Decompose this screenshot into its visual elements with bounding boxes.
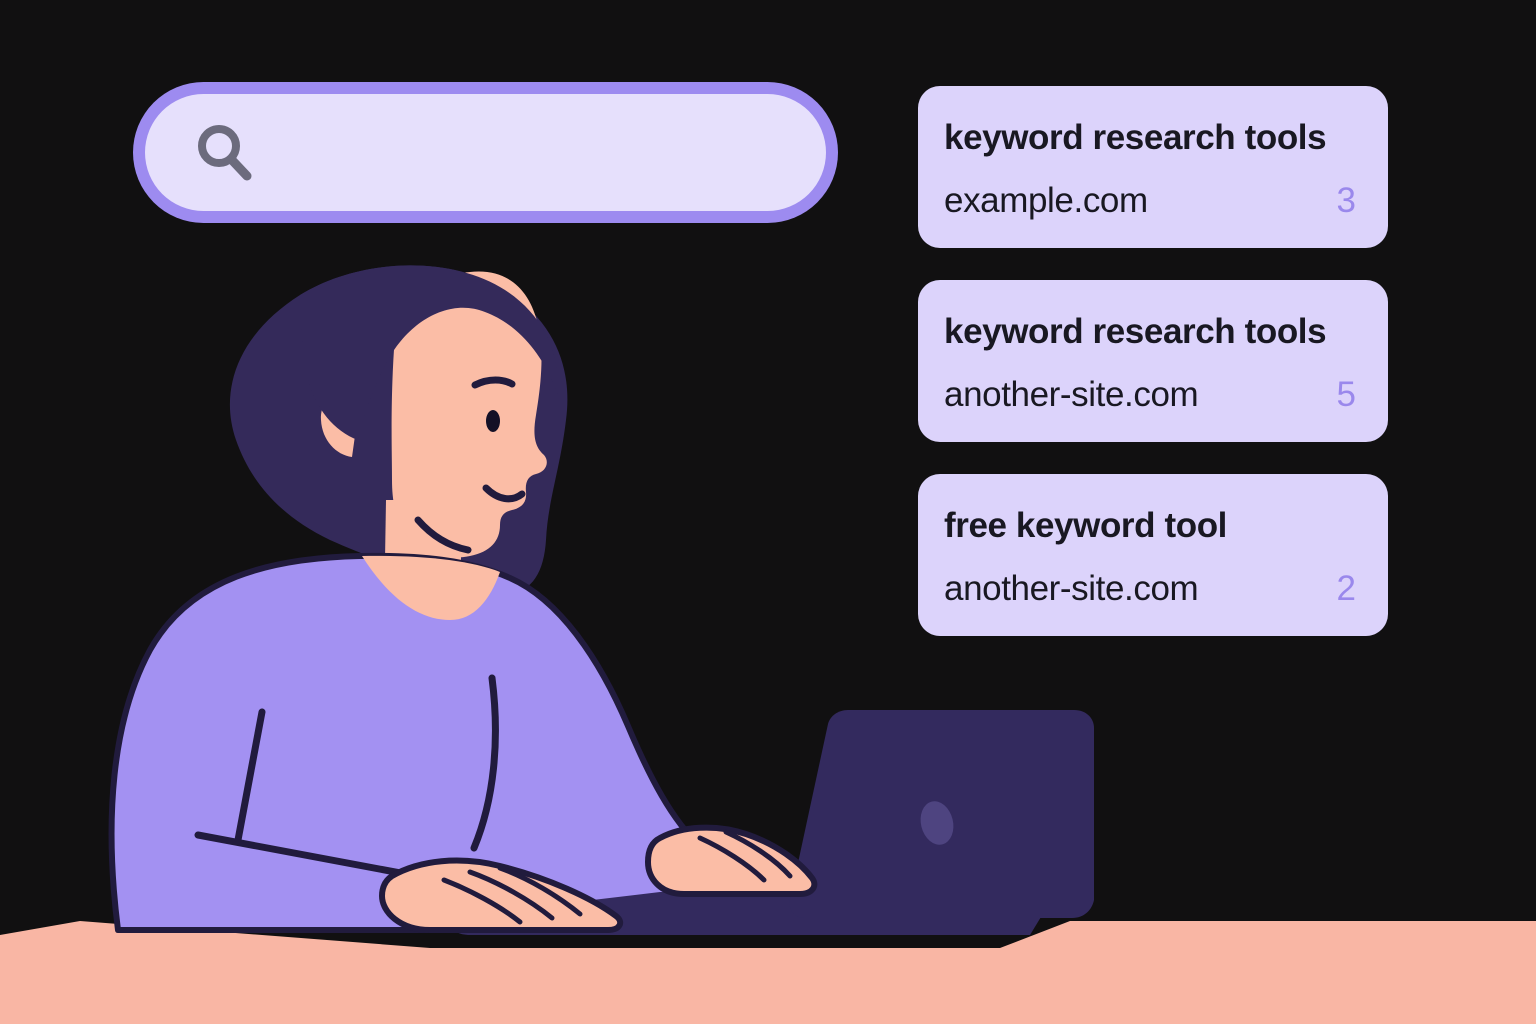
- search-results-list: keyword research tools example.com 3 key…: [918, 86, 1388, 636]
- result-keyword: keyword research tools: [944, 314, 1362, 349]
- result-bottom-row: another-site.com 5: [944, 377, 1362, 412]
- search-icon: [193, 121, 257, 185]
- result-domain: another-site.com: [944, 377, 1198, 412]
- result-bottom-row: another-site.com 2: [944, 571, 1362, 606]
- desk-surface: [0, 921, 1536, 1024]
- result-card[interactable]: keyword research tools another-site.com …: [918, 280, 1388, 442]
- result-keyword: keyword research tools: [944, 120, 1362, 155]
- search-input[interactable]: [275, 130, 826, 176]
- result-card[interactable]: free keyword tool another-site.com 2: [918, 474, 1388, 636]
- search-bar[interactable]: [133, 82, 838, 223]
- result-rank-badge: 3: [1337, 183, 1362, 218]
- result-domain: example.com: [944, 183, 1148, 218]
- right-hand: [648, 828, 814, 894]
- eye: [486, 410, 500, 432]
- illustration-canvas: keyword research tools example.com 3 key…: [0, 0, 1536, 1024]
- result-rank-badge: 5: [1337, 377, 1362, 412]
- result-keyword: free keyword tool: [944, 508, 1362, 543]
- result-card[interactable]: keyword research tools example.com 3: [918, 86, 1388, 248]
- result-rank-badge: 2: [1337, 571, 1362, 606]
- search-bar-inner[interactable]: [145, 94, 826, 211]
- result-bottom-row: example.com 3: [944, 183, 1362, 218]
- result-domain: another-site.com: [944, 571, 1198, 606]
